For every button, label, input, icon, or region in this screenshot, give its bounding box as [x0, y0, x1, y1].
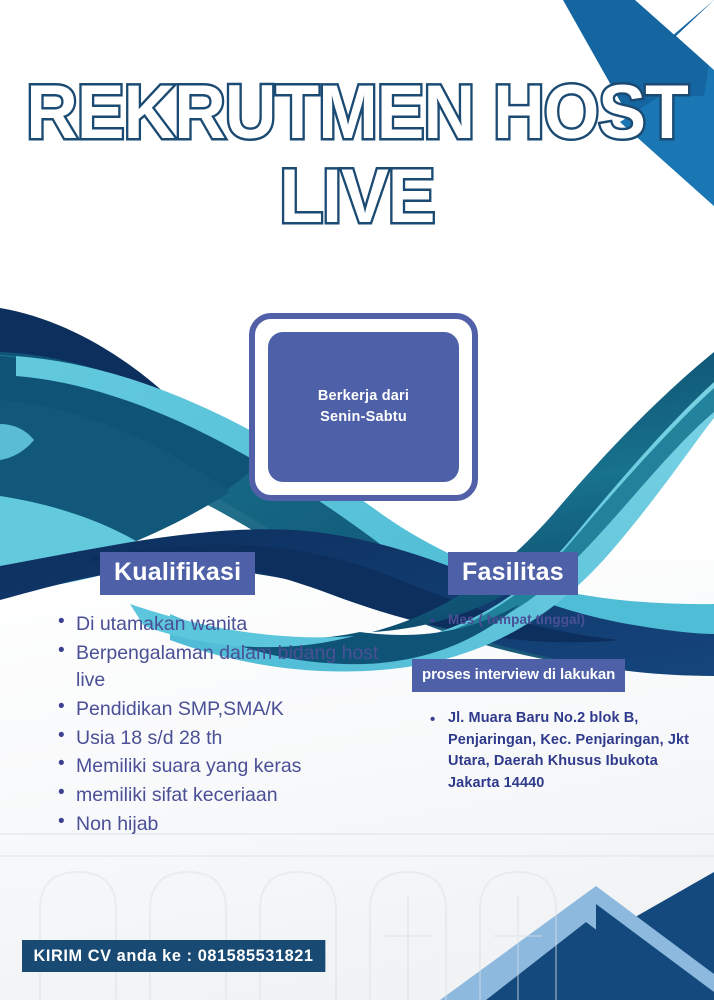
title-line-1: REKRUTMEN HOST — [21, 78, 692, 148]
list-item: Mes ( tempat tinggal) — [424, 611, 698, 630]
schedule-badge-inner: Berkerja dari Senin-Sabtu — [268, 332, 459, 482]
list-item: Berpengalaman dalam bidang host live — [52, 640, 394, 695]
address-list: Jl. Muara Baru No.2 blok B, Penjaringan,… — [412, 708, 698, 795]
schedule-badge-line-2: Senin-Sabtu — [320, 409, 407, 425]
list-item: Memiliki suara yang keras — [52, 753, 394, 781]
qualifications-heading: Kualifikasi — [100, 552, 255, 595]
facilities-list: Mes ( tempat tinggal) — [412, 611, 698, 630]
schedule-badge-line-1: Berkerja dari — [318, 388, 409, 404]
schedule-badge: Berkerja dari Senin-Sabtu — [249, 313, 478, 501]
facilities-heading: Fasilitas — [448, 552, 578, 595]
qualifications-heading-wrap: Kualifikasi — [34, 552, 394, 595]
qualifications-list: Di utamakan wanita Berpengalaman dalam b… — [34, 611, 394, 839]
schedule-badge-text: Berkerja dari Senin-Sabtu — [318, 386, 409, 428]
list-item: Non hijab — [52, 811, 394, 839]
facilities-heading-wrap: Fasilitas — [412, 552, 698, 595]
list-item: memiliki sifat keceriaan — [52, 782, 394, 810]
poster-title: REKRUTMEN HOST LIVE — [0, 78, 714, 232]
list-item: Jl. Muara Baru No.2 blok B, Penjaringan,… — [424, 708, 698, 795]
facilities-column: Fasilitas Mes ( tempat tinggal) proses i… — [412, 552, 698, 798]
qualifications-column: Kualifikasi Di utamakan wanita Berpengal… — [34, 552, 394, 840]
title-line-2: LIVE — [21, 162, 692, 232]
list-item: Usia 18 s/d 28 th — [52, 725, 394, 753]
poster-root: REKRUTMEN HOST LIVE Berkerja dari Senin-… — [0, 0, 714, 1000]
contact-banner: KIRIM CV anda ke : 081585531821 — [22, 940, 325, 972]
list-item: Pendidikan SMP,SMA/K — [52, 696, 394, 724]
list-item: Di utamakan wanita — [52, 611, 394, 639]
interview-banner: proses interview di lakukan — [412, 659, 625, 692]
